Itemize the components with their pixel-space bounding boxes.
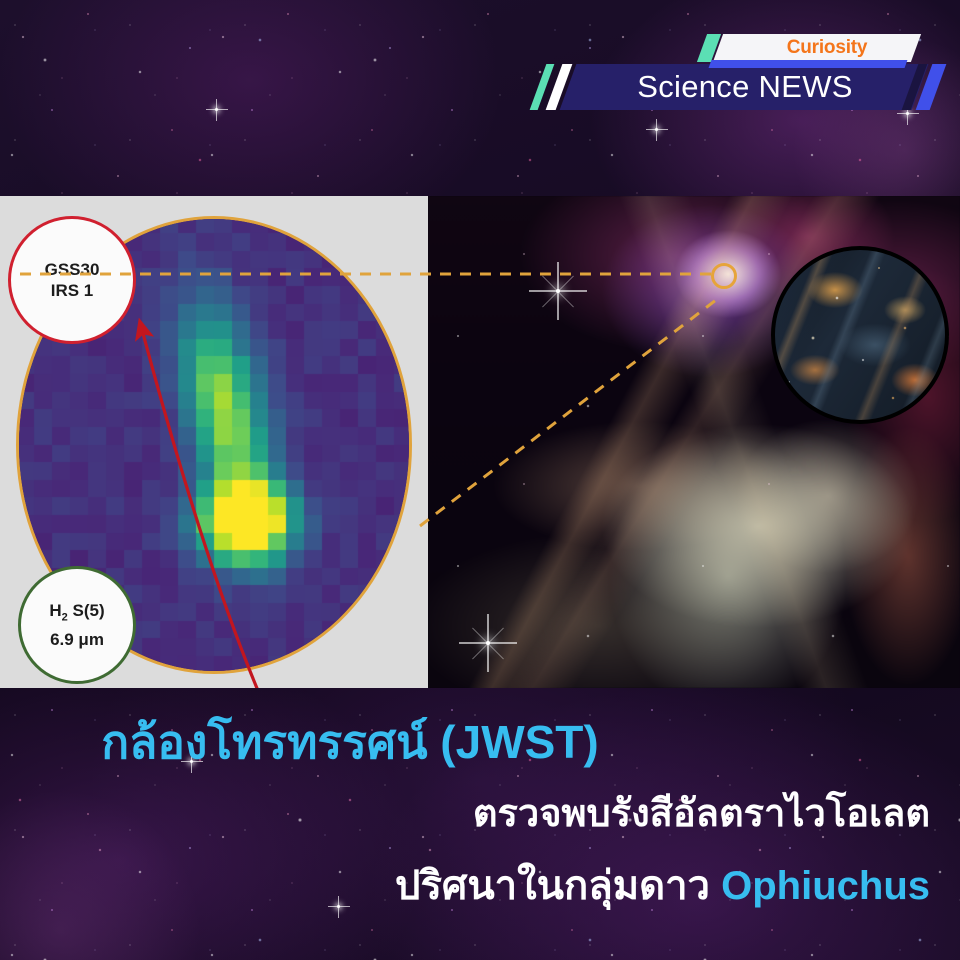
callout-gss30-line1: GSS30	[45, 259, 100, 280]
bright-star-icon	[215, 108, 218, 111]
headline-constellation-name: Ophiuchus	[721, 864, 930, 908]
figure-panel: ★ GSS30 IRS 1 H2 S(5) 6.9 μm	[0, 196, 960, 688]
headline-line-3: ปริศนาในกลุ่มดาว Ophiuchus	[0, 860, 930, 912]
headline-line-3-thai: ปริศนาในกลุ่มดาว	[395, 864, 721, 908]
zoom-inset-circle	[771, 246, 949, 424]
diffraction-star-icon	[556, 289, 560, 293]
headline-block: กล้องโทรทรรศน์ (JWST) ตรวจพบรังสีอัลตราไ…	[0, 700, 960, 960]
inset-filament-streaks	[775, 250, 945, 420]
banner-title: Science NEWS	[580, 66, 910, 108]
headline-line-2: ตรวจพบรังสีอัลตราไวโอเลต	[0, 790, 930, 838]
source-highlight-ring	[711, 263, 737, 289]
callout-h2s5-line1: H2 S(5)	[49, 600, 104, 628]
brand-badge-label: Curiosity	[752, 35, 902, 61]
callout-h2s5-line2: 6.9 μm	[50, 629, 104, 650]
diffraction-star-icon	[486, 641, 490, 645]
callout-h2-s5: H2 S(5) 6.9 μm	[18, 566, 136, 684]
h2s5-transition: S(5)	[68, 601, 105, 620]
heatmap-panel: ★ GSS30 IRS 1 H2 S(5) 6.9 μm	[0, 196, 428, 688]
bright-star-icon	[906, 112, 909, 115]
poster-canvas: Curiosity Science NEWS ★ GSS30	[0, 0, 960, 960]
bright-star-icon	[655, 128, 658, 131]
header-banner: Curiosity Science NEWS	[520, 26, 940, 112]
callout-gss30-line2: IRS 1	[51, 280, 94, 301]
headline-line-1: กล้องโทรทรรศน์ (JWST)	[0, 714, 700, 770]
callout-gss30-irs1: GSS30 IRS 1	[8, 216, 136, 344]
nebula-photo-panel	[428, 196, 960, 688]
h2s5-element: H	[49, 601, 61, 620]
